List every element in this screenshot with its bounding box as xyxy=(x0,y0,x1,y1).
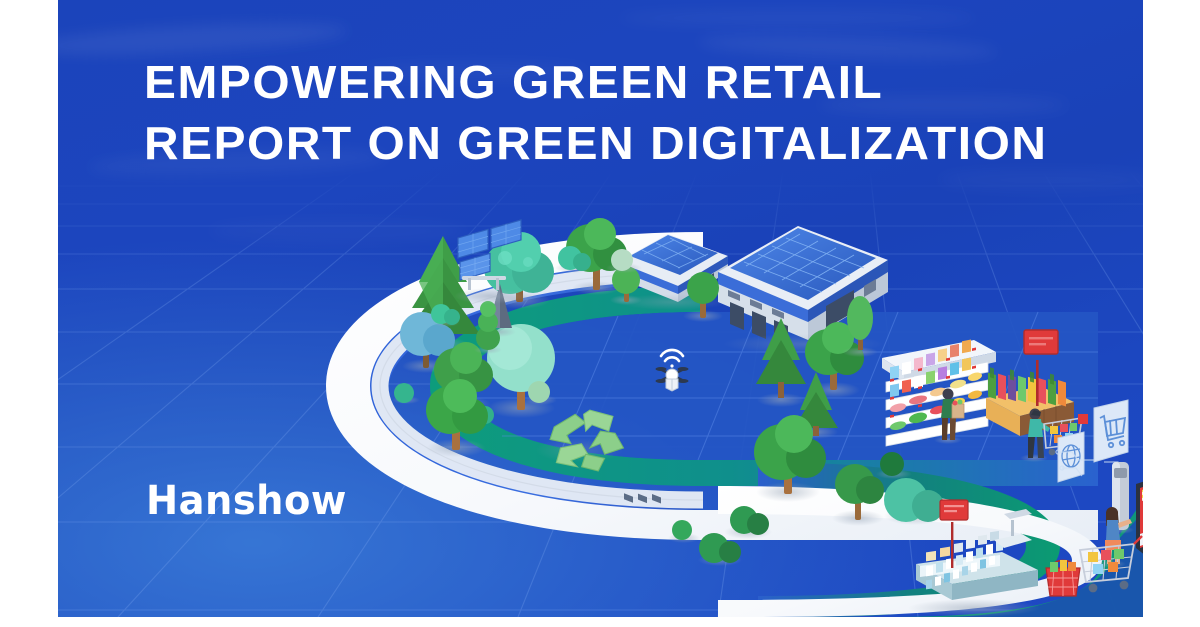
brand-logo: Hanshow xyxy=(146,478,347,524)
shopping-basket xyxy=(1046,560,1080,596)
globe-signage-panel xyxy=(1058,432,1084,482)
poster-root: EMPOWERING GREEN RETAIL REPORT ON GREEN … xyxy=(0,0,1200,627)
poster-canvas: EMPOWERING GREEN RETAIL REPORT ON GREEN … xyxy=(58,0,1143,617)
title-line-1: EMPOWERING GREEN RETAIL xyxy=(144,56,1038,108)
title-line-2: REPORT ON GREEN DIGITALIZATION xyxy=(144,117,1038,169)
page-title: EMPOWERING GREEN RETAIL REPORT ON GREEN … xyxy=(144,56,1004,169)
cart-signage-panel xyxy=(1094,400,1128,462)
